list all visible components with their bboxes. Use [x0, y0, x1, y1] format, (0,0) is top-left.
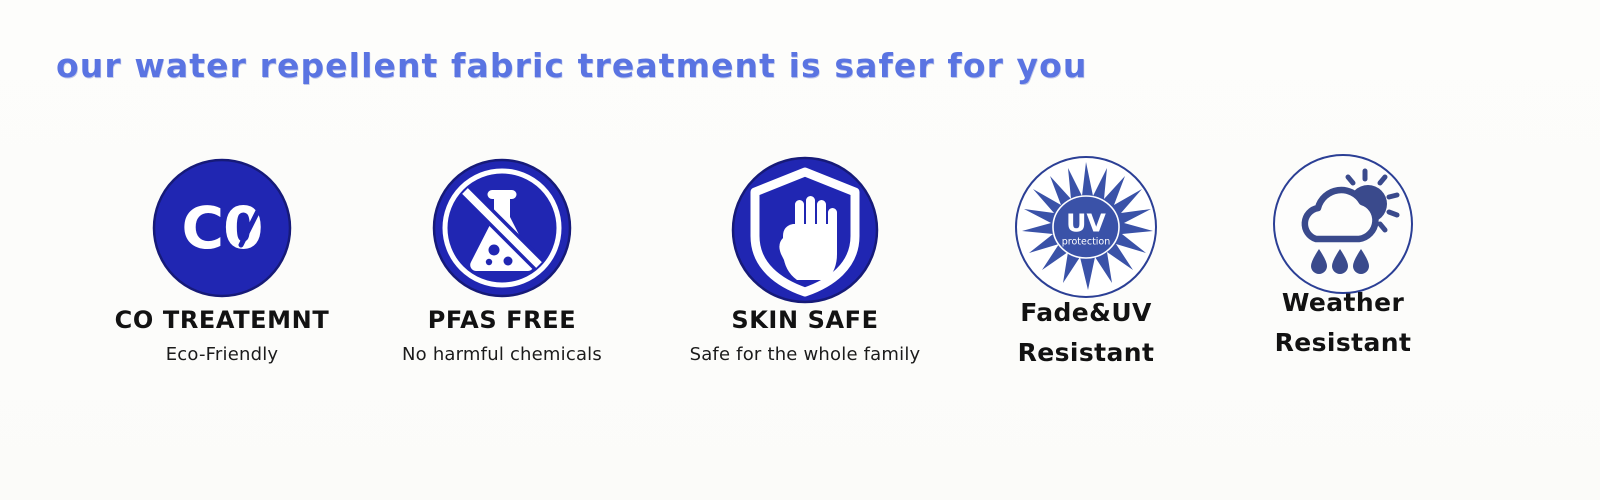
feature-item-co-treatment: C0 CO TREATEMNT Eco-Friendly: [72, 152, 372, 367]
feature-title: SKIN SAFE: [655, 306, 955, 334]
feature-item-fade-uv-resistant: UV protection Fade&UV Resistant: [936, 152, 1236, 367]
feature-title: Weather: [1193, 288, 1493, 318]
feature-item-skin-safe: SKIN SAFE Safe for the whole family: [655, 152, 955, 367]
banner-headline: our water repellent fabric treatment is …: [56, 46, 1088, 85]
feature-subtitle: No harmful chemicals: [352, 343, 652, 366]
feature-icon-wrap: [655, 152, 955, 304]
feature-title: Fade&UV: [936, 298, 1236, 328]
feature-icon-wrap: [352, 152, 652, 304]
feature-subtitle: Resistant: [936, 338, 1236, 368]
shield-hand-icon: [725, 152, 885, 312]
feature-icon-wrap: UV protection: [936, 152, 1236, 302]
uv-icon-label-secondary: protection: [1062, 237, 1111, 248]
uv-icon-label-primary: UV: [1066, 209, 1106, 238]
co-zero-circle-icon: C0: [146, 152, 298, 304]
feature-subtitle: Safe for the whole family: [655, 343, 955, 366]
feature-captions: PFAS FREE No harmful chemicals: [352, 306, 652, 367]
product-feature-banner: our water repellent fabric treatment is …: [0, 0, 1600, 500]
feature-captions: SKIN SAFE Safe for the whole family: [655, 306, 955, 367]
feature-subtitle: Resistant: [1193, 328, 1493, 358]
feature-title: PFAS FREE: [352, 306, 652, 334]
feature-item-pfas-free: PFAS FREE No harmful chemicals: [352, 152, 652, 367]
feature-list: C0 CO TREATEMNT Eco-Friendly: [0, 152, 1600, 432]
uv-protection-sun-icon: UV protection: [1011, 152, 1161, 302]
feature-icon-wrap: C0: [72, 152, 372, 304]
feature-captions: Fade&UV Resistant: [936, 298, 1236, 367]
feature-subtitle: Eco-Friendly: [72, 343, 372, 366]
cloud-sun-rain-icon: [1268, 152, 1418, 302]
feature-title: CO TREATEMNT: [72, 306, 372, 334]
feature-icon-wrap: [1193, 152, 1493, 302]
feature-item-weather-resistant: Weather Resistant: [1193, 152, 1493, 357]
no-chemicals-flask-icon: [426, 152, 578, 304]
feature-captions: CO TREATEMNT Eco-Friendly: [72, 306, 372, 367]
feature-captions: Weather Resistant: [1193, 288, 1493, 357]
